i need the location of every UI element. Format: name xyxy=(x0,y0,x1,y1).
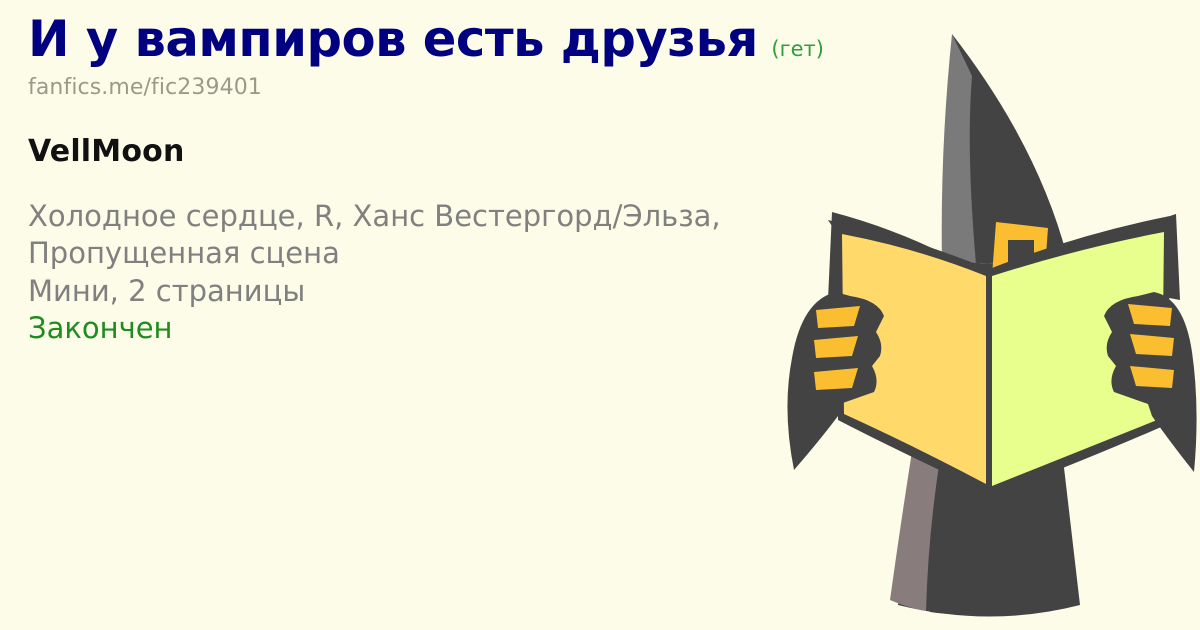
status-badge: Закончен xyxy=(28,310,788,347)
fic-meta-block: Холодное сердце, R, Ханс Вестергорд/Эльз… xyxy=(28,198,788,348)
page-title: И у вампиров есть друзья xyxy=(28,14,758,64)
fic-url: fanfics.me/fic239401 xyxy=(28,75,788,100)
fanfic-preview-card: И у вампиров есть друзья(гет) fanfics.me… xyxy=(0,0,1200,630)
book-right-page xyxy=(992,214,1176,496)
fic-category-label: (гет) xyxy=(763,37,824,61)
text-column: И у вампиров есть друзья(гет) fanfics.me… xyxy=(28,14,788,348)
witch-left-hand xyxy=(787,292,884,470)
book-left-page xyxy=(828,220,986,492)
author-name: VellMoon xyxy=(28,134,788,169)
witch-reading-book-illustration xyxy=(780,0,1200,630)
witch-hat xyxy=(828,34,1180,300)
fic-size: Мини, 2 страницы xyxy=(28,273,788,310)
title-row: И у вампиров есть друзья(гет) xyxy=(28,14,788,64)
witch-robe xyxy=(890,330,1080,617)
fic-tags: Холодное сердце, R, Ханс Вестергорд/Эльз… xyxy=(28,198,728,273)
witch-right-hand xyxy=(1104,292,1197,472)
